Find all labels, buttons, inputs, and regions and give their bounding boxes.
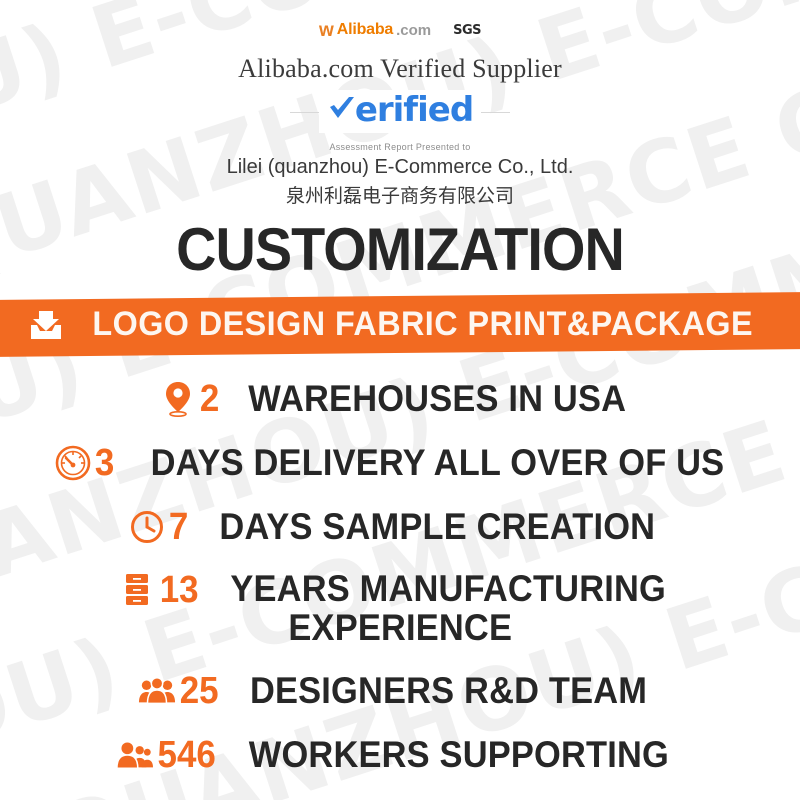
verified-badge: erified (319, 90, 481, 133)
verified-label: erified (355, 90, 473, 130)
feature-label-line2: EXPERIENCE (288, 609, 512, 648)
feature-row: 3 DAYS DELIVERY ALL OVER OF US (0, 431, 800, 495)
feature-label: DESIGNERS R&D TEAM (250, 672, 647, 711)
feature-row: 25 DESIGNERS R&D TEAM (0, 659, 800, 723)
alibaba-logo: w Alibaba.com (319, 21, 431, 40)
workers-group-icon (115, 736, 153, 774)
feature-number: 13 (159, 571, 198, 609)
filing-cabinet-icon (118, 571, 156, 609)
feature-label: DAYS DELIVERY ALL OVER OF US (151, 444, 725, 483)
feature-row: 13 YEARS MANUFACTURING EXPERIENCE (0, 559, 800, 659)
feature-number: 3 (95, 444, 114, 482)
brand-bar: w Alibaba.com SGS (0, 0, 800, 44)
company-name-cn: 泉州利磊电子商务有限公司 (0, 181, 800, 208)
feature-row: 7 DAYS SAMPLE CREATION (0, 495, 800, 559)
people-group-icon (138, 672, 176, 710)
download-tray-icon (29, 309, 63, 341)
verified-supplier-heading: Alibaba.com Verified Supplier (0, 54, 800, 84)
feature-number: 546 (158, 736, 216, 774)
feature-label: YEARS MANUFACTURING (230, 570, 666, 609)
sgs-logo: SGS (453, 23, 481, 38)
assessment-presented-to: Assessment Report Presented to (0, 142, 800, 152)
feature-row: 2 WAREHOUSES IN USA (0, 367, 800, 431)
feature-number: 7 (169, 508, 188, 546)
page-title: CUSTOMIZATION (28, 220, 772, 280)
feature-number: 2 (200, 380, 219, 418)
alibaba-brand-text: Alibaba (337, 21, 393, 39)
feature-label: DAYS SAMPLE CREATION (220, 508, 656, 547)
company-name-en: Lilei (quanzhou) E-Commerce Co., Ltd. (0, 156, 800, 179)
check-mark-icon (327, 93, 357, 133)
alibaba-swirl-icon: w (319, 21, 334, 40)
feature-row: 546 WORKERS SUPPORTING (0, 723, 800, 787)
certificate-page: LILEI (QUANZHOU) E-COMMERCE CO., LTD LIL… (0, 0, 800, 800)
feature-label: WORKERS SUPPORTING (249, 736, 669, 775)
feature-label: WAREHOUSES IN USA (249, 380, 627, 419)
feature-list: 2 WAREHOUSES IN USA (0, 367, 800, 787)
feature-number: 25 (180, 672, 219, 710)
map-pin-icon (159, 380, 197, 418)
services-banner: LOGO DESIGN FABRIC PRINT&PACKAGE (0, 292, 800, 357)
services-banner-text: LOGO DESIGN FABRIC PRINT&PACKAGE (93, 305, 754, 344)
verified-badge-row: erified (0, 90, 800, 134)
speedometer-icon (54, 444, 92, 482)
alibaba-domain-text: .com (396, 22, 431, 39)
clock-icon (128, 508, 166, 546)
